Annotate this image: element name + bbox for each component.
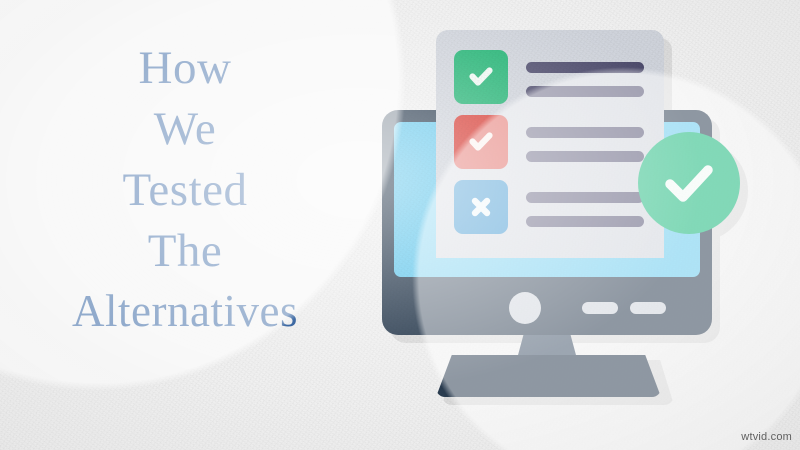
headline-line-1: How — [0, 38, 370, 99]
text-line — [526, 151, 644, 162]
check-circle-icon — [638, 132, 740, 234]
illustration — [360, 10, 780, 430]
watermark: wtvid.com — [741, 431, 792, 443]
checklist-row[interactable] — [454, 180, 650, 236]
text-line — [526, 192, 644, 203]
checklist-document — [436, 30, 664, 258]
power-indicator-icon — [509, 292, 541, 324]
monitor-base — [436, 355, 661, 397]
headline-line-3: Tested — [0, 160, 370, 221]
headline-line-5: Alternatives — [0, 282, 370, 341]
check-icon[interactable] — [454, 50, 508, 104]
monitor-button-1[interactable] — [582, 302, 618, 314]
monitor-button-2[interactable] — [630, 302, 666, 314]
checklist-row[interactable] — [454, 115, 650, 171]
close-icon[interactable] — [454, 180, 508, 234]
check-icon[interactable] — [454, 115, 508, 169]
text-line — [526, 86, 644, 97]
poster-canvas: How We Tested The Alternatives — [0, 0, 800, 450]
text-line — [526, 216, 644, 227]
headline-line-2: We — [0, 99, 370, 160]
text-line — [526, 127, 644, 138]
text-line — [526, 62, 644, 73]
headline-line-4: The — [0, 221, 370, 282]
page-title: How We Tested The Alternatives — [0, 38, 370, 341]
checklist-row[interactable] — [454, 50, 650, 106]
